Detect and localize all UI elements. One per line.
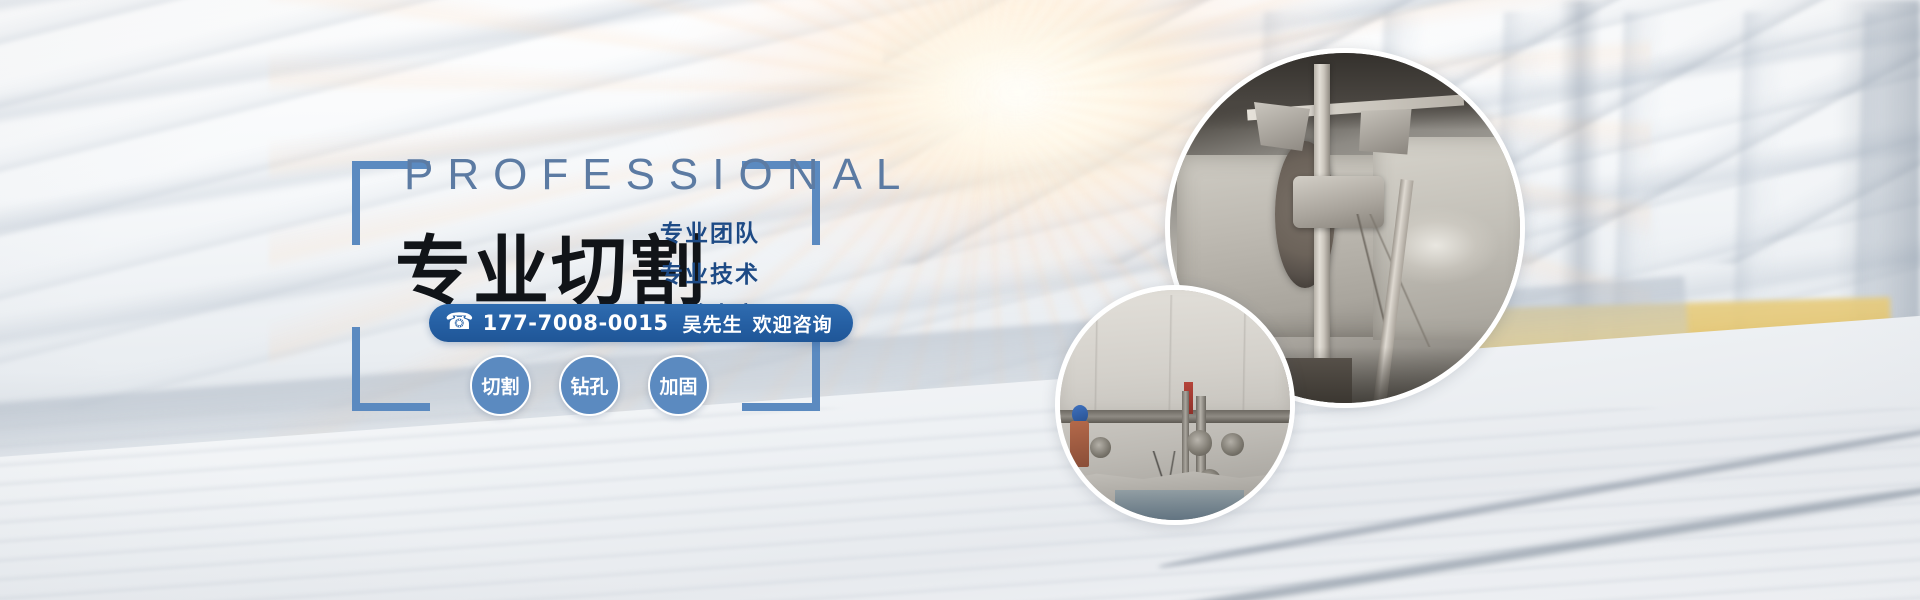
wire-saw-worker-photo xyxy=(1055,285,1295,525)
vignette-overlay xyxy=(0,0,1920,600)
worker-body xyxy=(1070,421,1088,467)
wire-pulley-4 xyxy=(1090,437,1111,458)
telephone-icon: ☎ xyxy=(445,311,474,334)
photo-dark-ceiling xyxy=(1170,53,1520,130)
service-badge-reinforcement[interactable]: 加固 xyxy=(648,355,709,416)
contact-person: 吴先生 xyxy=(683,310,743,337)
eyebrow-text: PROFESSIONAL xyxy=(404,150,914,200)
contact-cta-text: 欢迎咨询 xyxy=(753,310,833,337)
service-badge-cutting[interactable]: 切割 xyxy=(470,355,531,416)
feature-item-2: 专业技术 xyxy=(660,255,760,289)
service-badge-group: 切割 钻孔 加固 xyxy=(470,355,709,416)
service-badge-drilling[interactable]: 钻孔 xyxy=(559,355,620,416)
contact-bar[interactable]: ☎ 177-7008-0015 吴先生 欢迎咨询 xyxy=(429,304,853,342)
saw-guard-right xyxy=(1359,109,1412,155)
promo-banner: PROFESSIONAL 专业切割 专业团队 专业技术 经验丰富 ☎ 177-7… xyxy=(0,0,1920,600)
wire-pulley-2 xyxy=(1221,433,1244,456)
saw-guard-left xyxy=(1254,102,1310,151)
saw-cables xyxy=(1261,214,1492,347)
phone-number[interactable]: 177-7008-0015 xyxy=(483,311,669,335)
photo-inner xyxy=(1060,290,1290,520)
water-pool xyxy=(1115,490,1244,520)
feature-item-1: 专业团队 xyxy=(660,214,760,248)
wall-form-seams xyxy=(1060,295,1290,424)
steel-beam xyxy=(1060,410,1290,424)
